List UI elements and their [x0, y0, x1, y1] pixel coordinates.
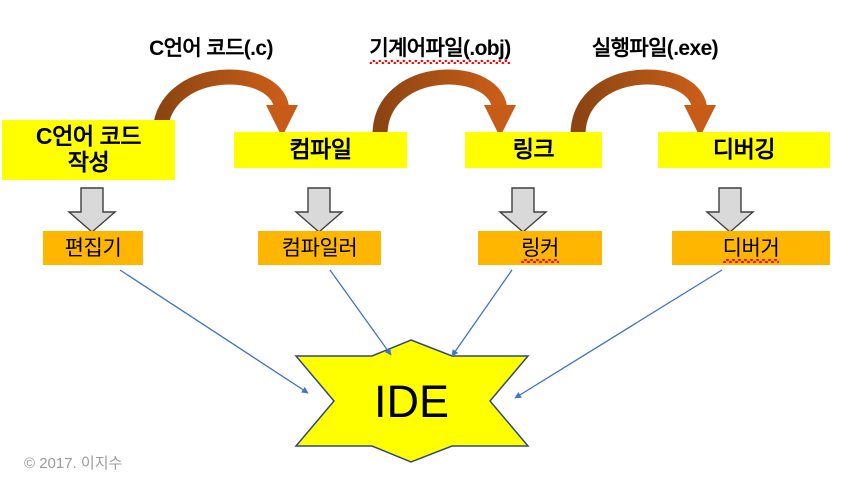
flow-label-obj-file-text: 기계어파일(.obj)	[369, 32, 510, 62]
down-arrow-3	[500, 188, 546, 232]
curved-arrow-link	[380, 77, 516, 137]
connector-editor-to-ide	[120, 270, 308, 393]
connector-linker-to-ide	[452, 270, 512, 356]
curved-arrow-debug	[578, 77, 716, 137]
tool-box-linker-label: 링커	[521, 238, 559, 259]
curved-arrow-compile	[160, 77, 298, 137]
down-arrow-4	[707, 188, 753, 232]
stage-box-debug[interactable]: 디버깅	[658, 132, 830, 168]
flow-label-obj-file: 기계어파일(.obj)	[369, 32, 510, 62]
flow-label-exe-file: 실행파일(.exe)	[592, 32, 718, 62]
tool-box-debugger-label: 디버거	[723, 238, 780, 259]
tool-box-editor-label: 편집기	[65, 238, 122, 259]
tool-box-linker[interactable]: 링커	[478, 231, 602, 265]
stage-box-write-code[interactable]: C언어 코드 작성	[2, 120, 175, 180]
connector-compiler-to-ide	[330, 270, 391, 355]
stage-box-compile[interactable]: 컴파일	[234, 132, 407, 168]
tool-box-compiler-label: 컴파일러	[282, 238, 358, 259]
copyright-footer: © 2017. 이지수	[24, 452, 122, 473]
down-arrow-1	[69, 188, 115, 232]
flow-label-c-source: C언어 코드(.c)	[149, 32, 273, 62]
diagram-canvas: C언어 코드(.c) 기계어파일(.obj) 실행파일(.exe) C언어 코드…	[0, 0, 867, 499]
connector-debugger-to-ide	[515, 270, 722, 398]
ide-star-label: IDE	[295, 376, 528, 428]
tool-box-debugger[interactable]: 디버거	[672, 231, 830, 265]
down-arrow-2	[296, 188, 342, 232]
tool-box-compiler[interactable]: 컴파일러	[258, 231, 381, 265]
stage-box-link[interactable]: 링크	[465, 132, 602, 168]
tool-box-editor[interactable]: 편집기	[43, 231, 143, 265]
